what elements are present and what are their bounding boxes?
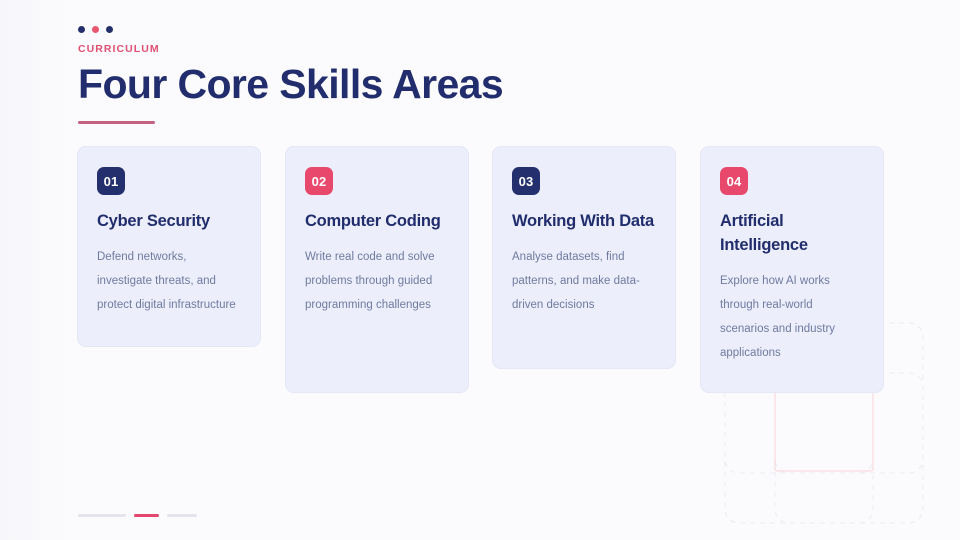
card-number-badge: 04 — [720, 167, 748, 195]
pagination-bar-1[interactable] — [78, 514, 126, 517]
card-title: Artificial Intelligence — [720, 209, 864, 257]
title-underline-rule — [78, 121, 155, 124]
pagination-bar-2-active[interactable] — [134, 514, 159, 517]
card-number-badge: 03 — [512, 167, 540, 195]
card-title: Computer Coding — [305, 209, 449, 233]
skill-card-working-with-data[interactable]: 03 Working With Data Analyse datasets, f… — [492, 146, 676, 369]
background-wash — [0, 0, 78, 540]
card-description: Analyse datasets, find patterns, and mak… — [512, 245, 656, 317]
dot-2-icon — [92, 26, 99, 33]
eyebrow-label: CURRICULUM — [78, 43, 503, 55]
page-header: CURRICULUM Four Core Skills Areas — [78, 22, 503, 124]
skill-card-cyber-security[interactable]: 01 Cyber Security Defend networks, inves… — [77, 146, 261, 347]
page-title: Four Core Skills Areas — [78, 61, 503, 108]
skill-card-artificial-intelligence[interactable]: 04 Artificial Intelligence Explore how A… — [700, 146, 884, 393]
slide-pagination[interactable] — [78, 514, 197, 517]
skill-card-computer-coding[interactable]: 02 Computer Coding Write real code and s… — [285, 146, 469, 393]
card-description: Write real code and solve problems throu… — [305, 245, 449, 317]
card-number-badge: 02 — [305, 167, 333, 195]
decorative-dots — [78, 22, 503, 36]
card-number-badge: 01 — [97, 167, 125, 195]
card-description: Defend networks, investigate threats, an… — [97, 245, 241, 317]
card-title: Cyber Security — [97, 209, 241, 233]
dot-3-icon — [106, 26, 113, 33]
card-title: Working With Data — [512, 209, 656, 233]
card-description: Explore how AI works through real-world … — [720, 269, 864, 365]
pagination-bar-3[interactable] — [167, 514, 197, 517]
dot-1-icon — [78, 26, 85, 33]
skills-card-grid: 01 Cyber Security Defend networks, inves… — [77, 146, 887, 396]
